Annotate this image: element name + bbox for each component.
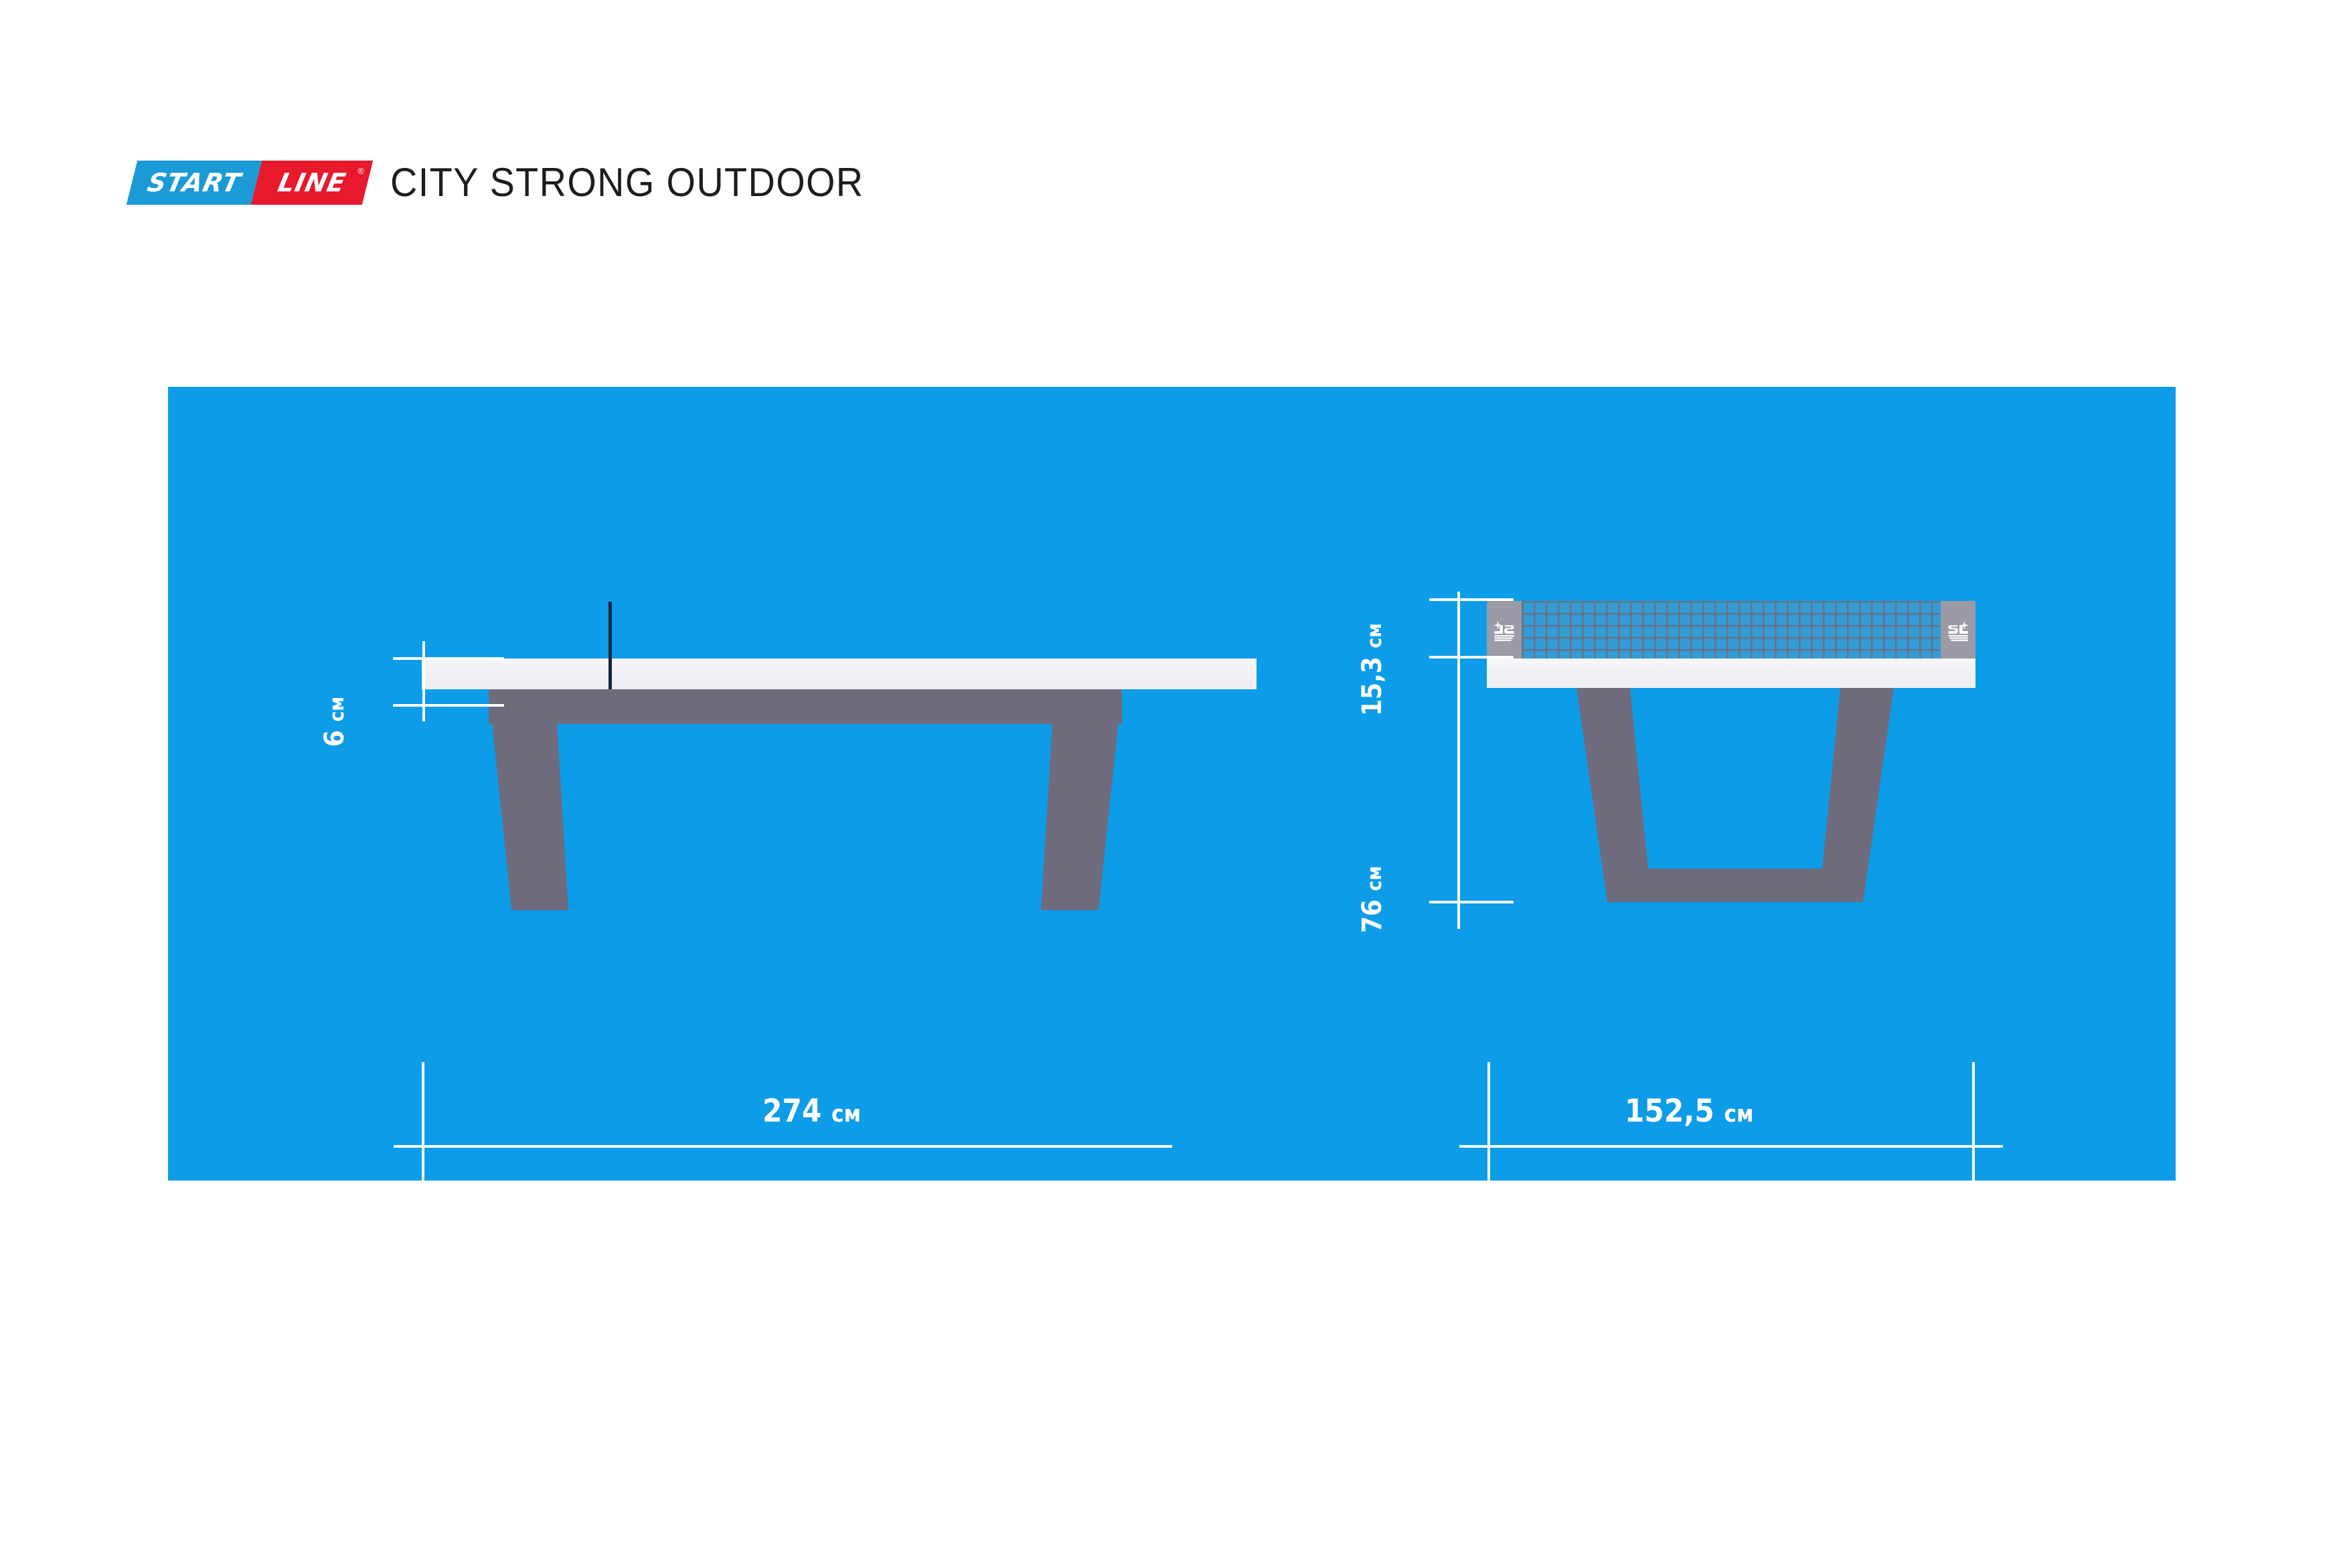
dimension-label-1525cm: 152,5 см: [1625, 1093, 1754, 1130]
startline-logo: START LINE ®: [127, 161, 373, 205]
dimension-unit: см: [1724, 1101, 1753, 1128]
dimension-length-group: [168, 387, 1172, 1181]
side-view-diagram: 6 см 274 см: [168, 387, 1172, 1181]
logo-line-block: LINE ®: [251, 161, 373, 205]
registered-trademark-icon: ®: [358, 167, 365, 175]
diagram-panel: 6 см 274 см: [168, 387, 2176, 1181]
page-title: CITY STRONG OUTDOOR: [390, 159, 864, 205]
logo-start-text: START: [145, 170, 243, 195]
end-view-diagram: 15,3 см 76 см 152,5 см: [1306, 387, 2176, 1181]
dimension-unit: см: [831, 1101, 861, 1128]
dimension-width-group: [1306, 387, 2176, 1181]
logo-start-block: START: [127, 161, 262, 205]
dimension-label-274cm: 274 см: [762, 1093, 861, 1130]
logo-line-text: LINE: [276, 170, 348, 195]
dimension-value: 274: [762, 1093, 821, 1130]
page-header: START LINE ® CITY STRONG OUTDOOR: [132, 159, 900, 205]
dimension-value: 152,5: [1625, 1093, 1714, 1130]
